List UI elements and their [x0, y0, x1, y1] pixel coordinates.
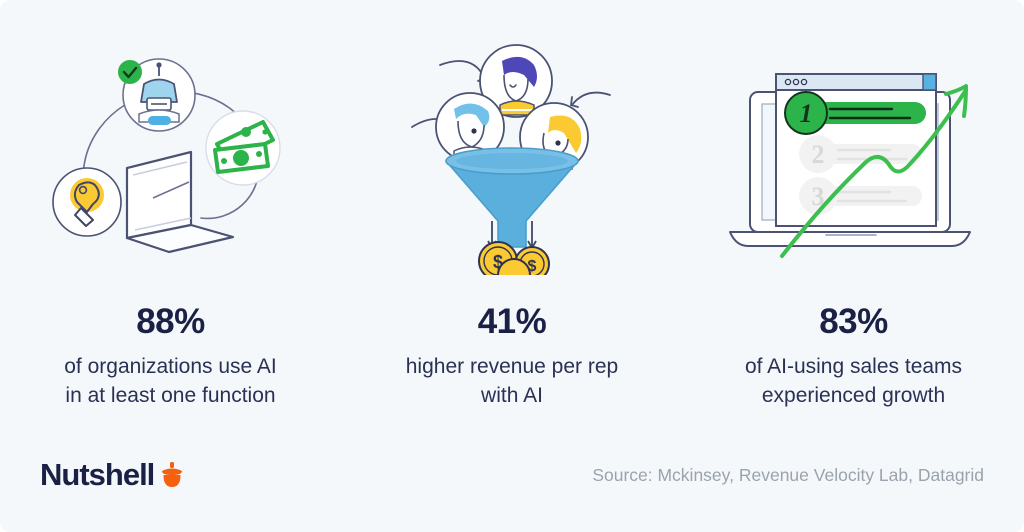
acorn-icon: [161, 462, 183, 488]
sales-funnel-illustration: $ $: [362, 30, 662, 280]
stats-row: 88% of organizations use AI in at least …: [0, 30, 1024, 430]
browser-window-icon: 1 2: [776, 74, 936, 226]
stat-description: of AI-using sales teams experienced grow…: [745, 353, 962, 411]
stat-description: of organizations use AI in at least one …: [64, 353, 276, 411]
banknotes-icon: [206, 111, 280, 185]
stat-value: 88%: [136, 304, 205, 339]
stat-description: higher revenue per rep with AI: [406, 353, 618, 411]
logo-wordmark: Nutshell: [40, 457, 154, 493]
laptop-with-ai-badges-illustration: [21, 30, 321, 280]
laptop-ranking-growth-illustration: 1 2: [704, 30, 1004, 280]
stat-value: 83%: [819, 304, 888, 339]
source-attribution: Source: Mckinsey, Revenue Velocity Lab, …: [592, 465, 984, 486]
stat-column-3: 1 2: [683, 30, 1024, 411]
stat-value: 41%: [478, 304, 547, 339]
funnel-icon: [446, 148, 578, 247]
infographic-canvas: 88% of organizations use AI in at least …: [0, 0, 1024, 532]
stat-column-1: 88% of organizations use AI in at least …: [0, 30, 341, 411]
rank-number: 1: [799, 99, 812, 128]
illustration-2-svg: $ $: [392, 35, 632, 275]
illustration-3-svg: 1 2: [714, 40, 994, 270]
stat-column-2: $ $ 41% higher revenue per rep with AI: [342, 30, 683, 411]
rank-number: 2: [811, 140, 824, 169]
lightbulb-icon: [53, 168, 121, 236]
robot-head-icon: [118, 59, 195, 131]
nutshell-logo[interactable]: Nutshell: [40, 457, 183, 493]
illustration-1-svg: [41, 40, 301, 270]
footer: Nutshell Source: Mckinsey, Revenue Veloc…: [0, 432, 1024, 532]
